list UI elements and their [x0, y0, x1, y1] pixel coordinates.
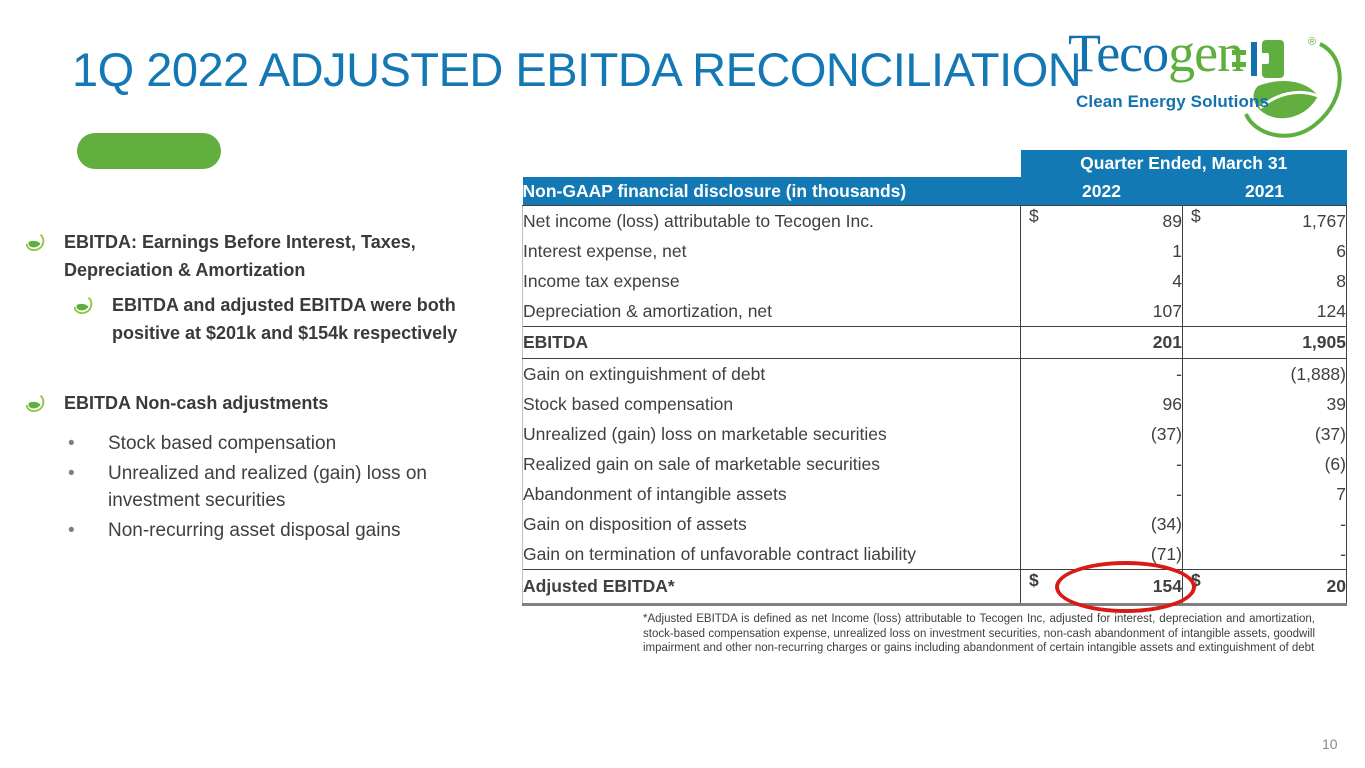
bullet-item: EBITDA: Earnings Before Interest, Taxes,… — [0, 228, 516, 284]
row-value-2021: (1,888) — [1183, 359, 1347, 390]
row-value-2021: 124 — [1183, 296, 1347, 327]
page-title: 1Q 2022 ADJUSTED EBITDA RECONCILIATION — [72, 42, 1081, 98]
cell-value: 1,767 — [1302, 211, 1346, 231]
row-value-2022: (37) — [1021, 419, 1183, 449]
row-value-2022: (71) — [1021, 539, 1183, 570]
row-label: Interest expense, net — [523, 236, 1021, 266]
row-value-2021: 7 — [1183, 479, 1347, 509]
row-value-2021: 6 — [1183, 236, 1347, 266]
bullet-label: EBITDA and adjusted EBITDA were both pos… — [112, 291, 492, 347]
page-number: 10 — [1322, 736, 1338, 752]
table-header-row: Non-GAAP financial disclosure (in thousa… — [523, 177, 1347, 206]
row-value-2021: $1,767 — [1183, 206, 1347, 237]
logo-tagline: Clean Energy Solutions — [1076, 92, 1269, 112]
row-label: Realized gain on sale of marketable secu… — [523, 449, 1021, 479]
row-value-2022: - — [1021, 479, 1183, 509]
table-row: Net income (loss) attributable to Tecoge… — [523, 206, 1347, 237]
row-value-2022: 4 — [1021, 266, 1183, 296]
left-bullet-panel: EBITDA: Earnings Before Interest, Taxes,… — [0, 228, 516, 544]
list-item: • Unrealized and realized (gain) loss on… — [0, 460, 516, 514]
table-row: Income tax expense 4 8 — [523, 266, 1347, 296]
cell-value: 89 — [1163, 211, 1182, 231]
row-value-2021: 39 — [1183, 389, 1347, 419]
list-item: • Non-recurring asset disposal gains — [0, 517, 516, 544]
table-row: Abandonment of intangible assets - 7 — [523, 479, 1347, 509]
cell-value: 20 — [1327, 576, 1346, 596]
list-item-label: Stock based compensation — [108, 430, 336, 457]
row-value-2022: 107 — [1021, 296, 1183, 327]
leaf-bullet-icon — [24, 231, 46, 253]
table-row: Stock based compensation 96 39 — [523, 389, 1347, 419]
row-value-2021: - — [1183, 539, 1347, 570]
header-year-2021: 2021 — [1183, 177, 1347, 206]
dot-bullet-icon: • — [68, 430, 76, 457]
row-value-2021: (37) — [1183, 419, 1347, 449]
table-total-row: Adjusted EBITDA* $154 $20 — [523, 570, 1347, 605]
row-value-2022: 1 — [1021, 236, 1183, 266]
green-pill-badge — [77, 133, 221, 169]
row-label: Unrealized (gain) loss on marketable sec… — [523, 419, 1021, 449]
row-value-2021: - — [1183, 509, 1347, 539]
superheader-blank-cell — [523, 150, 1021, 177]
logo-wordmark: Tecogen — [1068, 24, 1243, 82]
bullet-label: EBITDA Non-cash adjustments — [64, 389, 328, 417]
dot-bullet-icon: • — [68, 460, 76, 487]
footnote-text: *Adjusted EBITDA is defined as net Incom… — [643, 612, 1315, 656]
tecogen-logo: Tecogen ® Clean Energy Solutions — [1060, 16, 1350, 128]
list-item-label: Non-recurring asset disposal gains — [108, 517, 401, 544]
row-value-2022: $154 — [1021, 570, 1183, 605]
table-row: Gain on extinguishment of debt - (1,888) — [523, 359, 1347, 390]
currency-symbol: $ — [1029, 206, 1039, 227]
row-value-2021: (6) — [1183, 449, 1347, 479]
currency-symbol: $ — [1029, 570, 1039, 591]
row-value-2022: 96 — [1021, 389, 1183, 419]
row-label: Abandonment of intangible assets — [523, 479, 1021, 509]
row-label: Income tax expense — [523, 266, 1021, 296]
row-value-2022: 201 — [1021, 327, 1183, 359]
dot-bullet-icon: • — [68, 517, 76, 544]
bullet-item: EBITDA and adjusted EBITDA were both pos… — [0, 291, 516, 347]
table-row: Gain on termination of unfavorable contr… — [523, 539, 1347, 570]
leaf-swoosh-icon — [1238, 42, 1350, 138]
spacer — [0, 347, 516, 389]
table-row: Gain on disposition of assets (34) - — [523, 509, 1347, 539]
table-superheader-row: Quarter Ended, March 31 — [523, 150, 1347, 177]
list-item-label: Unrealized and realized (gain) loss on i… — [108, 460, 488, 514]
row-label: Adjusted EBITDA* — [523, 570, 1021, 605]
table-subtotal-row: EBITDA 201 1,905 — [523, 327, 1347, 359]
row-label: Gain on disposition of assets — [523, 509, 1021, 539]
row-value-2021: 1,905 — [1183, 327, 1347, 359]
currency-symbol: $ — [1191, 570, 1201, 591]
row-label: Gain on termination of unfavorable contr… — [523, 539, 1021, 570]
row-value-2022: $89 — [1021, 206, 1183, 237]
row-label: Gain on extinguishment of debt — [523, 359, 1021, 390]
table-row: Unrealized (gain) loss on marketable sec… — [523, 419, 1347, 449]
header-year-2022: 2022 — [1021, 177, 1183, 206]
leaf-bullet-icon — [72, 294, 94, 316]
row-label: Net income (loss) attributable to Tecoge… — [523, 206, 1021, 237]
row-value-2021: $20 — [1183, 570, 1347, 605]
table-row: Interest expense, net 1 6 — [523, 236, 1347, 266]
row-value-2022: - — [1021, 449, 1183, 479]
bullet-label: EBITDA: Earnings Before Interest, Taxes,… — [64, 228, 464, 284]
table-row: Realized gain on sale of marketable secu… — [523, 449, 1347, 479]
row-label: EBITDA — [523, 327, 1021, 359]
header-disclosure-label: Non-GAAP financial disclosure (in thousa… — [523, 177, 1021, 206]
leaf-bullet-icon — [24, 392, 46, 414]
row-value-2022: (34) — [1021, 509, 1183, 539]
row-value-2021: 8 — [1183, 266, 1347, 296]
logo-word-teco: Teco — [1068, 23, 1168, 83]
currency-symbol: $ — [1191, 206, 1201, 227]
row-value-2022: - — [1021, 359, 1183, 390]
registered-mark: ® — [1308, 36, 1316, 48]
list-item: • Stock based compensation — [0, 430, 516, 457]
superheader-quarter-ended: Quarter Ended, March 31 — [1021, 150, 1347, 177]
row-label: Stock based compensation — [523, 389, 1021, 419]
ebitda-reconciliation-table: Quarter Ended, March 31 Non-GAAP financi… — [522, 150, 1347, 606]
row-label: Depreciation & amortization, net — [523, 296, 1021, 327]
cell-value: 154 — [1153, 576, 1182, 596]
bullet-item: EBITDA Non-cash adjustments — [0, 389, 516, 417]
table-row: Depreciation & amortization, net 107 124 — [523, 296, 1347, 327]
